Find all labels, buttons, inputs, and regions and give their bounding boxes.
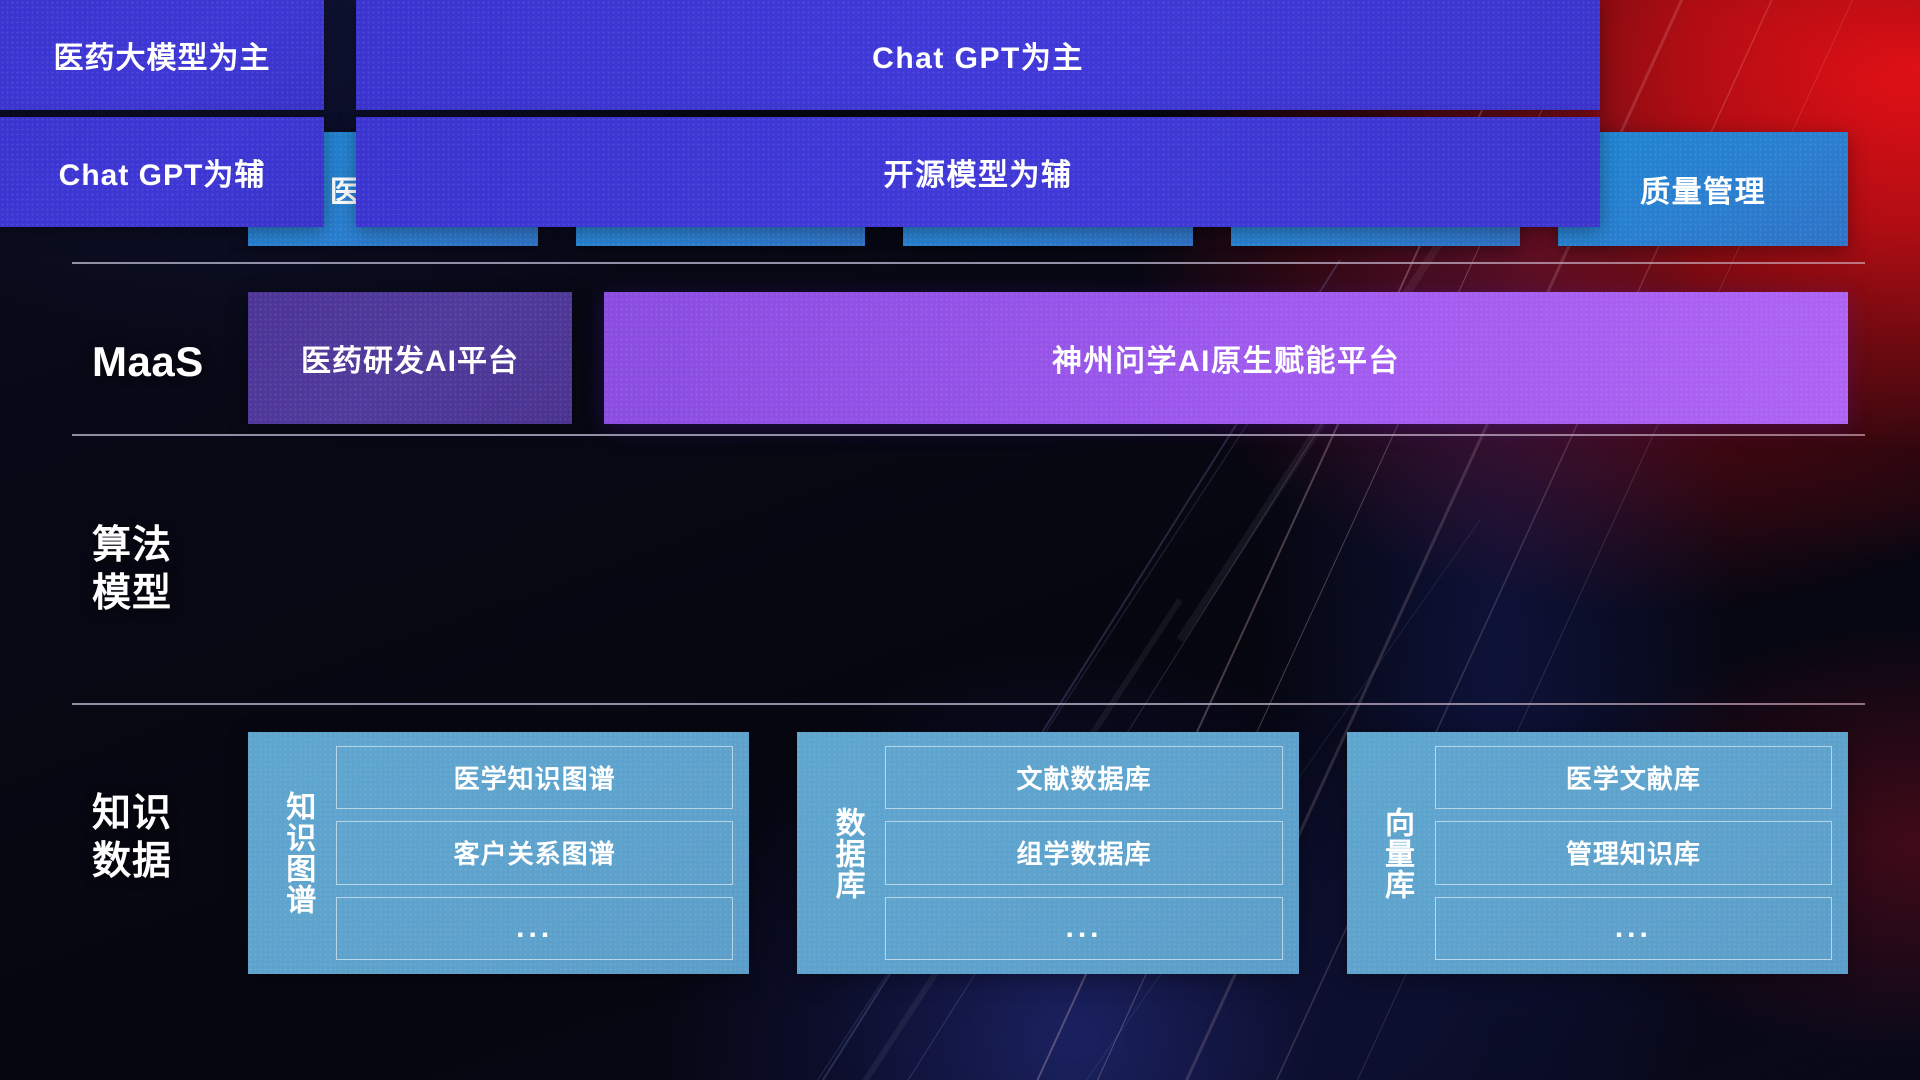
divider-application-maas — [72, 262, 1865, 264]
knowledge-item-more[interactable]: ... — [885, 897, 1282, 960]
row-label-maas: MaaS — [92, 336, 262, 387]
knowledge-group-title: 向量库 — [1357, 746, 1435, 960]
knowledge-item-more[interactable]: ... — [336, 897, 733, 960]
algo-card-opensource-secondary[interactable]: 开源模型为辅 — [356, 117, 1600, 227]
knowledge-group-title: 数据库 — [807, 746, 885, 960]
knowledge-group-database[interactable]: 数据库 文献数据库 组学数据库 ... — [797, 732, 1298, 974]
algorithm-line-secondary: Chat GPT为辅 开源模型为辅 — [0, 117, 1600, 227]
knowledge-item[interactable]: 文献数据库 — [885, 746, 1282, 809]
maas-card-shenzhou-wenxue-platform[interactable]: 神州问学AI原生赋能平台 — [604, 292, 1848, 424]
algo-card-label: Chat GPT为辅 — [59, 150, 266, 194]
knowledge-item[interactable]: 医学知识图谱 — [336, 746, 733, 809]
row-label-algorithm: 算法 模型 — [92, 522, 262, 617]
knowledge-group-title: 知识图谱 — [258, 746, 336, 960]
knowledge-item[interactable]: 组学数据库 — [885, 821, 1282, 884]
row-label-knowledge: 知识 数据 — [92, 790, 262, 885]
maas-card-label: 神州问学AI原生赋能平台 — [1052, 336, 1400, 380]
slide-canvas: 应用 场景 医药研发 医学事务 企业知识 效能工具 质量管理 MaaS 医药研发… — [0, 0, 1920, 1080]
algorithm-line-primary: 医药大模型为主 Chat GPT为主 — [0, 0, 1600, 110]
algorithm-models-row: 医药大模型为主 Chat GPT为主 Chat GPT为辅 开源模型为辅 — [0, 0, 1600, 235]
knowledge-data-row: 知识图谱 医学知识图谱 客户关系图谱 ... 数据库 文献数据库 组学数据库 .… — [248, 732, 1848, 974]
app-card-label: 质量管理 — [1640, 167, 1766, 211]
knowledge-group-vector-store[interactable]: 向量库 医学文献库 管理知识库 ... — [1347, 732, 1848, 974]
algo-card-label: 医药大模型为主 — [54, 33, 271, 77]
app-card-quality-management[interactable]: 质量管理 — [1558, 132, 1848, 246]
maas-card-pharma-ai-platform[interactable]: 医药研发AI平台 — [248, 292, 572, 424]
knowledge-group-items: 文献数据库 组学数据库 ... — [885, 746, 1282, 960]
knowledge-item[interactable]: 客户关系图谱 — [336, 821, 733, 884]
knowledge-item[interactable]: 医学文献库 — [1435, 746, 1832, 809]
knowledge-group-items: 医学文献库 管理知识库 ... — [1435, 746, 1832, 960]
algo-card-label: 开源模型为辅 — [884, 150, 1073, 194]
knowledge-group-knowledge-graph[interactable]: 知识图谱 医学知识图谱 客户关系图谱 ... — [248, 732, 749, 974]
knowledge-item[interactable]: 管理知识库 — [1435, 821, 1832, 884]
maas-card-label: 医药研发AI平台 — [301, 336, 519, 380]
maas-row: 医药研发AI平台 神州问学AI原生赋能平台 — [248, 292, 1848, 424]
algo-card-pharma-llm-primary[interactable]: 医药大模型为主 — [0, 0, 324, 110]
knowledge-item-more[interactable]: ... — [1435, 897, 1832, 960]
knowledge-group-items: 医学知识图谱 客户关系图谱 ... — [336, 746, 733, 960]
algo-card-chatgpt-primary[interactable]: Chat GPT为主 — [356, 0, 1600, 110]
divider-algorithm-knowledge — [72, 703, 1865, 705]
divider-maas-algorithm — [72, 434, 1865, 436]
algo-card-chatgpt-secondary[interactable]: Chat GPT为辅 — [0, 117, 324, 227]
algo-card-label: Chat GPT为主 — [872, 33, 1084, 77]
